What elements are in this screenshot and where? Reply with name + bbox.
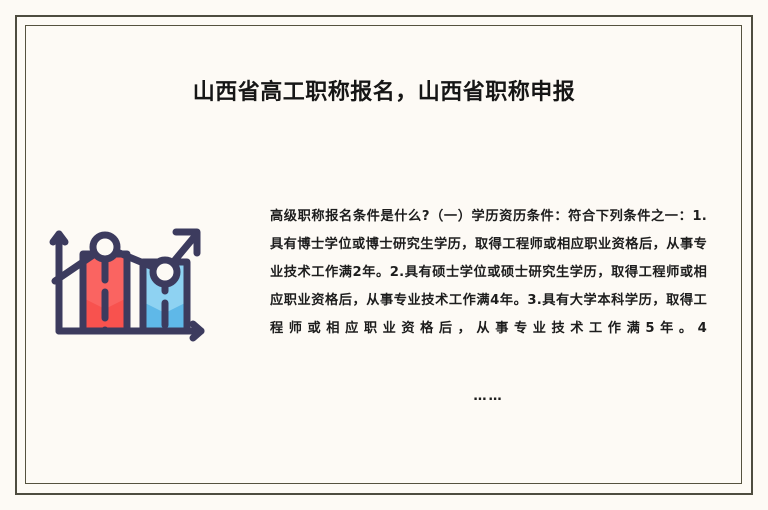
marker-point-1 (93, 235, 117, 259)
marker-point-2 (153, 260, 177, 284)
article-body: 高级职称报名条件是什么?（一）学历资历条件：符合下列条件之一：1.具有博士学位或… (270, 203, 707, 343)
article-body-text: 高级职称报名条件是什么?（一）学历资历条件：符合下列条件之一：1.具有博士学位或… (270, 203, 707, 343)
bar-chart-growth-icon-svg (45, 214, 209, 346)
page-root: 山西省高工职称报名，山西省职称申报 (0, 0, 768, 510)
page-title: 山西省高工职称报名，山西省职称申报 (0, 78, 768, 108)
bar-chart-growth-icon (45, 214, 209, 346)
article-body-ellipsis: …… (270, 383, 707, 411)
